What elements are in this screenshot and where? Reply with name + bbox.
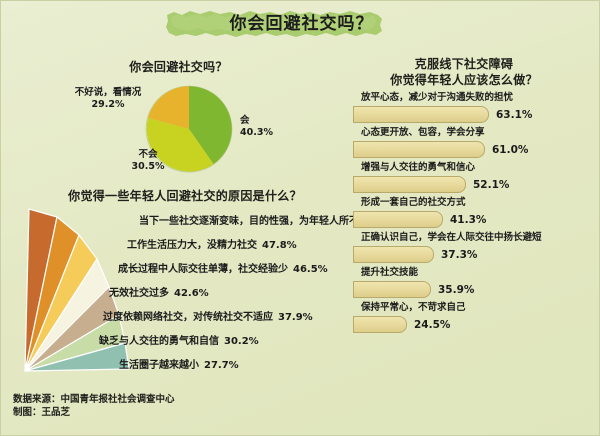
pie-label-yes-name: 会 (240, 115, 273, 127)
pie-label-yes-value: 40.3% (240, 127, 273, 139)
bar-label: 正确认识自己，学会在人际交往中扬长避短 (353, 231, 600, 244)
bar-value: 37.3% (441, 249, 477, 261)
infographic-page: 你会回避社交吗？ 你会回避社交吗？ 会 40.3% 不会 30.5% 不好说，看… (0, 0, 600, 436)
bar-label: 增强与人交往的勇气和信心 (353, 161, 600, 174)
bar-fill (353, 106, 489, 123)
bar-fill (353, 281, 431, 298)
reason-label: 当下一些社交逐渐变味，目的性强，为年轻人所不喜 (139, 216, 369, 227)
bar-group: 增强与人交往的勇气和信心 52.1% (353, 161, 600, 194)
reason-value: 46.5% (293, 264, 328, 275)
bar-group: 形成一套自己的社交方式 41.3% (353, 196, 600, 229)
bar-row: 37.3% (353, 245, 600, 264)
bar-row: 35.9% (353, 280, 600, 299)
pie-label-no: 不会 30.5% (113, 149, 183, 173)
reason-item: 缺乏与人交往的勇气和自信30.2% (61, 330, 361, 354)
reason-label: 生活圈子越来越小 (119, 360, 199, 371)
pie-label-no-name: 不会 (113, 149, 183, 161)
bar-row: 52.1% (353, 175, 600, 194)
bar-value: 61.0% (492, 144, 528, 156)
reason-label: 过度依赖网络社交，对传统社交不适应 (103, 312, 273, 323)
reasons-section-title: 你觉得一些年轻人回避社交的原因是什么？ (25, 187, 345, 204)
bar-value: 35.9% (438, 284, 474, 296)
bar-group: 放平心态，减少对于沟通失败的担忧 63.1% (353, 91, 600, 124)
reason-item: 成长过程中人际交往单薄，社交经验少46.5% (61, 258, 361, 282)
bar-track (353, 176, 466, 193)
bar-group: 提升社交技能 35.9% (353, 266, 600, 299)
footer: 数据来源：中国青年报社社会调查中心 制图：王品芝 (13, 393, 175, 419)
overcome-section-title-line1: 克服线下社交障碍 (331, 55, 597, 72)
pie-label-maybe-name: 不好说，看情况 (64, 87, 152, 99)
bar-track (353, 281, 431, 298)
reason-item: 工作生活压力大，没精力社交47.8% (61, 234, 361, 258)
reason-value: 27.7% (204, 360, 239, 371)
bar-track (353, 316, 407, 333)
bar-row: 24.5% (353, 315, 600, 334)
reason-label: 缺乏与人交往的勇气和自信 (99, 336, 219, 347)
reason-item: 生活圈子越来越小27.7% (61, 354, 361, 378)
footer-source: 数据来源：中国青年报社社会调查中心 (13, 393, 175, 406)
bar-value: 41.3% (450, 214, 486, 226)
bar-group: 心态更开放、包容，学会分享 61.0% (353, 126, 600, 159)
bar-label: 保持平常心，不苛求自己 (353, 301, 600, 314)
overcome-section-title-line2: 你觉得年轻人应该怎么做？ (331, 71, 597, 88)
bar-track (353, 106, 489, 123)
bar-row: 41.3% (353, 210, 600, 229)
pie-label-no-value: 30.5% (113, 161, 183, 173)
reason-label: 无效社交过多 (109, 288, 169, 299)
bar-fill (353, 246, 434, 263)
bar-group: 正确认识自己，学会在人际交往中扬长避短 37.3% (353, 231, 600, 264)
reason-value: 47.8% (262, 240, 297, 251)
bar-track (353, 141, 485, 158)
reason-value: 37.9% (278, 312, 313, 323)
overcome-bar-chart: 放平心态，减少对于沟通失败的担忧 63.1% 心态更开放、包容，学会分享 61.… (353, 91, 600, 401)
reasons-list: 当下一些社交逐渐变味，目的性强，为年轻人所不喜60.6% 工作生活压力大，没精力… (61, 210, 361, 378)
bar-label: 形成一套自己的社交方式 (353, 196, 600, 209)
bar-row: 61.0% (353, 140, 600, 159)
bar-value: 52.1% (473, 179, 509, 191)
reason-label: 工作生活压力大，没精力社交 (127, 240, 257, 251)
pie-section-title: 你会回避社交吗？ (46, 58, 311, 75)
pie-label-yes: 会 40.3% (240, 115, 273, 139)
reason-value: 30.2% (224, 336, 259, 347)
bar-track (353, 246, 434, 263)
reason-label: 成长过程中人际交往单薄，社交经验少 (118, 264, 288, 275)
reason-item: 当下一些社交逐渐变味，目的性强，为年轻人所不喜60.6% (61, 210, 361, 234)
bar-fill (353, 141, 485, 158)
reason-value: 42.6% (174, 288, 209, 299)
bar-value: 63.1% (496, 109, 532, 121)
bar-label: 提升社交技能 (353, 266, 600, 279)
reason-item: 无效社交过多42.6% (61, 282, 361, 306)
bar-label: 心态更开放、包容，学会分享 (353, 126, 600, 139)
page-title: 你会回避社交吗？ (164, 11, 439, 37)
footer-credit: 制图：王品芝 (13, 406, 175, 419)
reason-item: 过度依赖网络社交，对传统社交不适应37.9% (61, 306, 361, 330)
bar-fill (353, 211, 443, 228)
bar-label: 放平心态，减少对于沟通失败的担忧 (353, 91, 600, 104)
bar-fill (353, 316, 407, 333)
bar-row: 63.1% (353, 105, 600, 124)
pie-label-maybe-value: 29.2% (64, 99, 152, 111)
bar-value: 24.5% (414, 319, 450, 331)
pie-label-maybe: 不好说，看情况 29.2% (64, 87, 152, 111)
bar-track (353, 211, 443, 228)
bar-fill (353, 176, 466, 193)
bar-group: 保持平常心，不苛求自己 24.5% (353, 301, 600, 334)
